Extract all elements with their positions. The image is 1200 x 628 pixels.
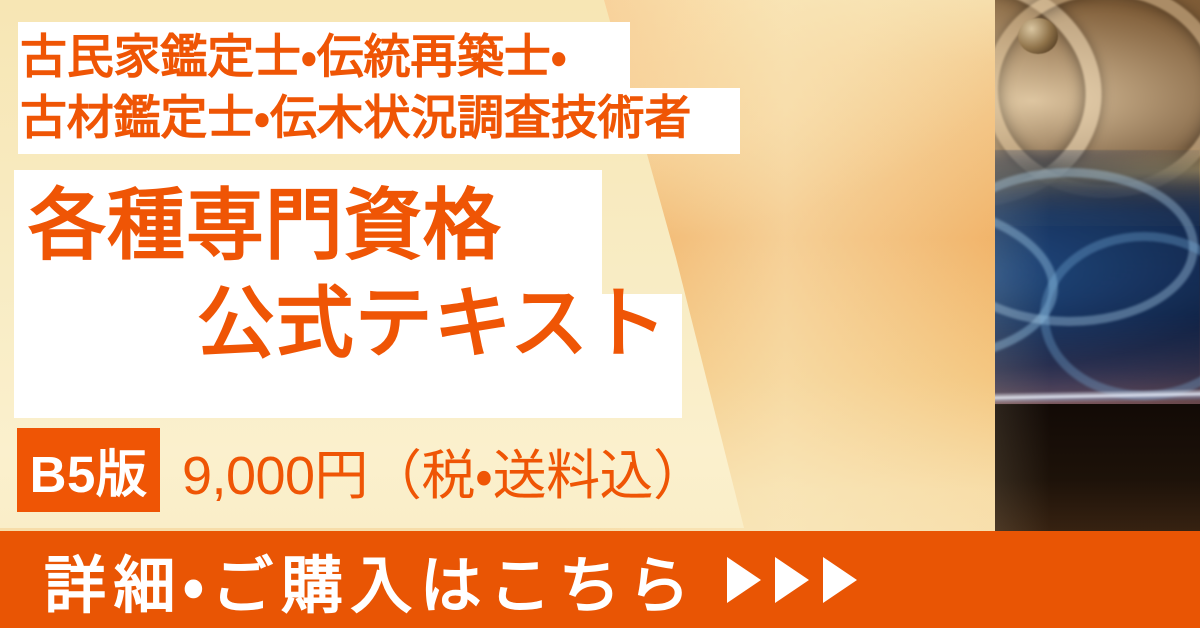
promo-banner[interactable]: 古 民 家 伝統構法 古民家活用のための調査と再生の 古民家鑑定士・伝統再築士・… (0, 0, 1200, 628)
qualifications-headline-line2: 古材鑑定士・伝木状況調査技術者 (20, 87, 726, 148)
triangle-right-icon (823, 557, 857, 603)
main-headline: 各種専門資格 公式テキスト (20, 180, 680, 369)
size-badge: B5版 (17, 428, 160, 512)
triangle-right-icon (775, 557, 809, 603)
main-headline-line2: 公式テキスト (20, 278, 680, 368)
price-row: B5版 9,000円（税・送料込） (17, 427, 717, 513)
qualifications-headline: 古民家鑑定士・伝統再築士・ 古材鑑定士・伝木状況調査技術者 (20, 26, 726, 148)
qualifications-headline-line1: 古民家鑑定士・伝統再築士・ (20, 26, 726, 87)
main-headline-line1: 各種専門資格 (20, 180, 680, 270)
cta-arrow-group (727, 557, 857, 603)
cta-label: 詳細・ご購入はこちら (44, 535, 697, 625)
price-amount: 9,000円（税・送料込） (182, 431, 706, 510)
cta-bar[interactable]: 詳細・ご購入はこちら (0, 531, 1200, 628)
triangle-right-icon (727, 557, 761, 603)
